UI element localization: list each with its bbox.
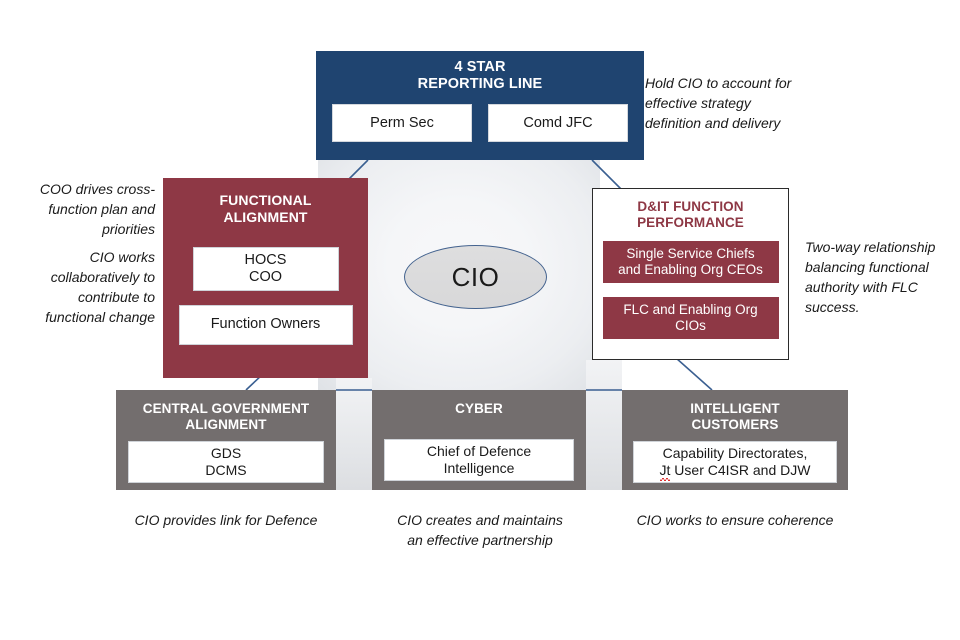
intelligent-customers-title: INTELLIGENT CUSTOMERS: [690, 401, 780, 433]
chip-single-service-chiefs[interactable]: Single Service Chiefs and Enabling Org C…: [603, 241, 779, 283]
column-backdrop-right: [586, 360, 622, 490]
central-government-alignment-box[interactable]: CENTRAL GOVERNMENT ALIGNMENT GDS DCMS: [116, 390, 336, 490]
chip-gds-dcms[interactable]: GDS DCMS: [128, 441, 324, 483]
caption-intelligent-customers: CIO works to ensure coherence: [620, 511, 850, 531]
dit-function-performance-title: D&IT FUNCTION PERFORMANCE: [637, 199, 744, 231]
chip-flc-enabling-org-cios[interactable]: FLC and Enabling Org CIOs: [603, 297, 779, 339]
four-star-reporting-line-title: 4 STAR REPORTING LINE: [418, 59, 543, 93]
annotation-left-lower: CIO works collaboratively to contribute …: [12, 248, 155, 328]
column-backdrop-left: [336, 378, 372, 490]
central-government-alignment-title: CENTRAL GOVERNMENT ALIGNMENT: [143, 401, 310, 433]
cio-ellipse[interactable]: CIO: [404, 245, 547, 309]
chip-capability-directorates[interactable]: Capability Directorates, Jt User C4ISR a…: [633, 441, 837, 483]
diagram-canvas: 4 STAR REPORTING LINE Perm Sec Comd JFC …: [0, 0, 960, 640]
spellcheck-underline-jt: Jt: [660, 462, 671, 479]
functional-alignment-title: FUNCTIONAL ALIGNMENT: [220, 192, 312, 225]
annotation-right: Two-way relationship balancing functiona…: [805, 238, 955, 318]
intelligent-customers-box[interactable]: INTELLIGENT CUSTOMERS Capability Directo…: [622, 390, 848, 490]
chip-comd-jfc[interactable]: Comd JFC: [488, 104, 628, 142]
annotation-top-right: Hold CIO to account for effective strate…: [645, 74, 825, 134]
chip-line-with-spellcheck: Jt User C4ISR and DJW: [660, 462, 811, 479]
functional-alignment-box[interactable]: FUNCTIONAL ALIGNMENT HOCS COO Function O…: [163, 178, 368, 378]
cyber-box[interactable]: CYBER Chief of Defence Intelligence: [372, 390, 586, 490]
chip-function-owners[interactable]: Function Owners: [179, 305, 353, 345]
four-star-reporting-line-box[interactable]: 4 STAR REPORTING LINE Perm Sec Comd JFC: [316, 51, 644, 160]
four-star-chip-row: Perm Sec Comd JFC: [332, 104, 628, 142]
caption-central-government-alignment: CIO provides link for Defence: [112, 511, 340, 531]
chip-line2-rest: User C4ISR and DJW: [670, 462, 810, 478]
chip-hocs-coo[interactable]: HOCS COO: [193, 247, 339, 291]
chip-chief-of-defence-intelligence[interactable]: Chief of Defence Intelligence: [384, 439, 574, 481]
chip-perm-sec[interactable]: Perm Sec: [332, 104, 472, 142]
caption-cyber: CIO creates and maintains an effective p…: [372, 511, 588, 551]
cio-label: CIO: [452, 262, 500, 293]
annotation-left-upper: COO drives cross- function plan and prio…: [12, 180, 155, 240]
cyber-title: CYBER: [455, 401, 503, 417]
dit-function-performance-box[interactable]: D&IT FUNCTION PERFORMANCE Single Service…: [592, 188, 789, 360]
